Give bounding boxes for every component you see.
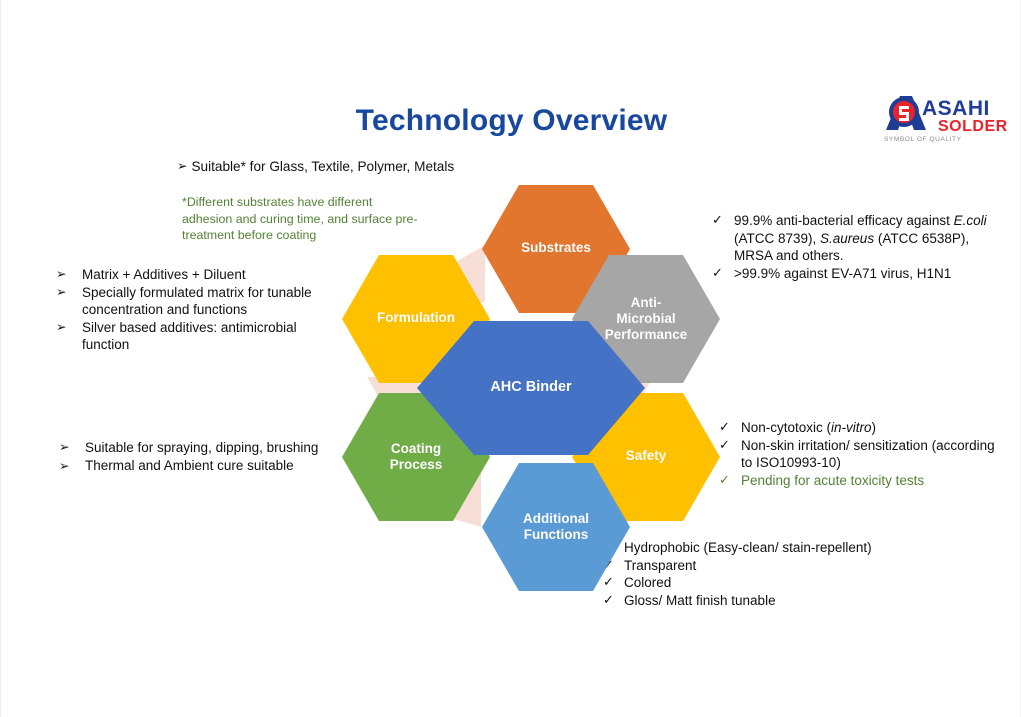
list-item: ➢ Suitable for spraying, dipping, brushi… [59, 439, 334, 457]
list-item: ➢ Matrix + Additives + Diluent [56, 266, 331, 284]
list-item: ✓ >99.9% against EV-A71 virus, H1N1 [712, 265, 994, 283]
text-part: 99.9% anti-bacterial efficacy against [734, 213, 954, 228]
coating-process-notes: ➢ Suitable for spraying, dipping, brushi… [59, 439, 334, 474]
list-item-pending: ✓ Pending for acute toxicity tests [719, 472, 1001, 490]
text-part: ) [872, 420, 877, 435]
safety-notes: ✓ Non-cytotoxic (in-vitro) ✓ Non-skin ir… [719, 419, 1001, 489]
slide-canvas: Technology Overview ASAHI SOLDER SYMBOL … [0, 0, 1021, 717]
list-item-label: >99.9% against EV-A71 virus, H1N1 [734, 265, 994, 283]
svg-text:SOLDER: SOLDER [938, 118, 1008, 135]
list-item: ✓ Non-cytotoxic (in-vitro) [719, 419, 1001, 437]
svg-text:SYMBOL OF QUALITY: SYMBOL OF QUALITY [884, 136, 962, 143]
list-item-label: Matrix + Additives + Diluent [82, 266, 331, 284]
text-part: Non-cytotoxic ( [741, 420, 831, 435]
list-item-label: Non-skin irritation/ sensitization (acco… [741, 437, 1001, 472]
suitable-substrates-bullet: ➢ Suitable* for Glass, Textile, Polymer,… [177, 158, 507, 176]
list-item-label: Pending for acute toxicity tests [741, 472, 1001, 490]
list-item-label: Thermal and Ambient cure suitable [85, 458, 334, 474]
arrow-bullet-icon: ➢ [59, 439, 85, 455]
arrow-bullet-icon: ➢ [56, 284, 82, 300]
list-item: ➢ Silver based additives: antimicrobial … [56, 319, 331, 354]
text-part: (ATCC 8739), [734, 231, 820, 246]
formulation-notes: ➢ Matrix + Additives + Diluent ➢ Special… [56, 266, 331, 354]
organism-name: E.coli [954, 213, 987, 228]
organism-name: S.aureus [820, 231, 874, 246]
list-item-label: 99.9% anti-bacterial efficacy against E.… [734, 212, 994, 265]
list-item-label: Silver based additives: antimicrobial fu… [82, 319, 331, 354]
list-item: ✓ Non-skin irritation/ sensitization (ac… [719, 437, 1001, 472]
arrow-bullet-icon: ➢ [56, 319, 82, 335]
svg-text:ASAHI: ASAHI [922, 97, 990, 120]
bullet-label: Suitable* for Glass, Textile, Polymer, M… [191, 158, 507, 176]
list-item: ✓ 99.9% anti-bacterial efficacy against … [712, 212, 994, 265]
list-item: ➢ Specially formulated matrix for tunabl… [56, 284, 331, 319]
list-item: ➢ Thermal and Ambient cure suitable [59, 458, 334, 474]
arrow-bullet-icon: ➢ [56, 266, 82, 282]
arrow-bullet-icon: ➢ [177, 158, 187, 174]
list-item-label: Specially formulated matrix for tunable … [82, 284, 331, 319]
list-item-label: Non-cytotoxic (in-vitro) [741, 419, 1001, 437]
list-item-label: Suitable for spraying, dipping, brushing [85, 439, 334, 457]
emphasis-text: in-vitro [831, 420, 872, 435]
page-title: Technology Overview [1, 104, 1021, 138]
arrow-bullet-icon: ➢ [59, 458, 85, 474]
asahi-solder-logo: ASAHI SOLDER SYMBOL OF QUALITY [878, 90, 1010, 144]
hexagon-diagram: Substrates Anti- Microbial Performance S… [331, 185, 731, 595]
bullet-row: ➢ Suitable* for Glass, Textile, Polymer,… [177, 158, 507, 176]
antimicrobial-notes: ✓ 99.9% anti-bacterial efficacy against … [712, 212, 994, 282]
